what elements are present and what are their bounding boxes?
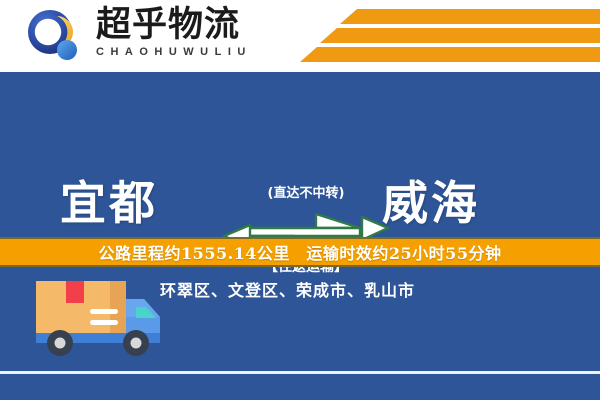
coverage-section: 环翠区、文登区、荣成市、乳山市: [0, 269, 600, 400]
route-panel: 宜都 (直达不中转) 【往返运输】 威海: [0, 72, 600, 237]
brand-name-en: CHAOHUWULIU: [96, 46, 276, 58]
banner-header: 超乎物流 CHAOHUWULIU: [0, 0, 600, 72]
brand-name-cn: 超乎物流: [96, 6, 276, 44]
orange-speed-stripes-icon: [280, 0, 600, 68]
delivery-truck-icon: [32, 275, 172, 367]
distance-duration-bar: 公路里程约1555.14公里 运输时效约25小时55分钟: [0, 237, 600, 267]
distance-duration-text: 公路里程约1555.14公里 运输时效约25小时55分钟: [99, 240, 502, 264]
stripe-2: [320, 28, 600, 43]
origin-city: 宜都: [60, 167, 158, 233]
route-note-direct: (直达不中转): [236, 182, 376, 201]
stripe-3: [300, 47, 600, 62]
circle-crescent-logo-icon: [24, 8, 84, 64]
stripe-1: [340, 9, 600, 24]
brand-block: 超乎物流 CHAOHUWULIU: [96, 6, 276, 68]
bottom-divider: [0, 371, 600, 374]
coverage-districts-text: 环翠区、文登区、荣成市、乳山市: [160, 277, 580, 301]
destination-city: 威海: [382, 167, 480, 233]
logistics-route-banner: 超乎物流 CHAOHUWULIU 宜都 (直达不中转): [0, 0, 600, 400]
